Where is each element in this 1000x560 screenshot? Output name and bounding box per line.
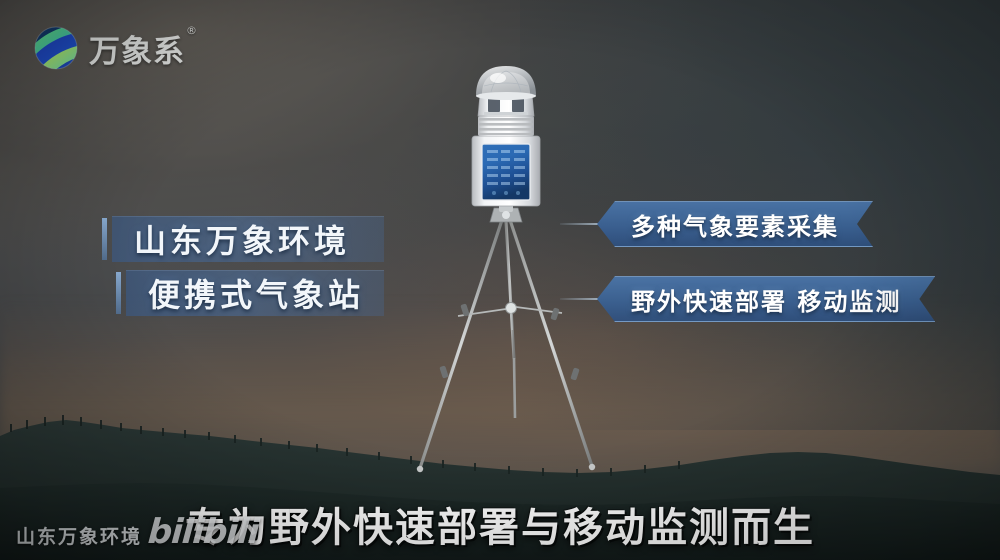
registered-mark-icon: ® [186,24,198,37]
callout-1-body: 多种气象要素采集 [597,201,873,247]
title-line-2-label: 便携式气象站 [148,270,364,316]
callout-2-label: 野外快速部署 移动监测 [631,282,901,317]
brand-logo-label: 万象系 [89,34,185,70]
callout-connector-line [560,298,598,300]
title-line-2: 便携式气象站 [126,270,384,316]
accent-bar-icon [116,272,121,314]
video-frame: 万象系 ® [0,0,1000,560]
callout-2-body: 野外快速部署 移动监测 [597,276,935,322]
brand-logo: 万象系 ® [30,22,185,74]
brand-logo-text: 万象系 ® [89,26,185,71]
swirl-globe-icon [30,22,82,74]
watermark-platform-logo: bilibili [147,512,260,552]
accent-bar-icon [102,218,107,260]
callout-1-label: 多种气象要素采集 [631,207,839,242]
callout-connector-line [560,223,598,225]
callout-feature-2: 野外快速部署 移动监测 [560,277,935,321]
callout-feature-1: 多种气象要素采集 [560,202,873,246]
title-line-1-label: 山东万象环境 [134,216,350,262]
title-panel: 山东万象环境 便携式气象站 [112,216,384,324]
title-line-1: 山东万象环境 [112,216,384,262]
watermark-brand-text: 山东万象环境 [16,522,142,549]
